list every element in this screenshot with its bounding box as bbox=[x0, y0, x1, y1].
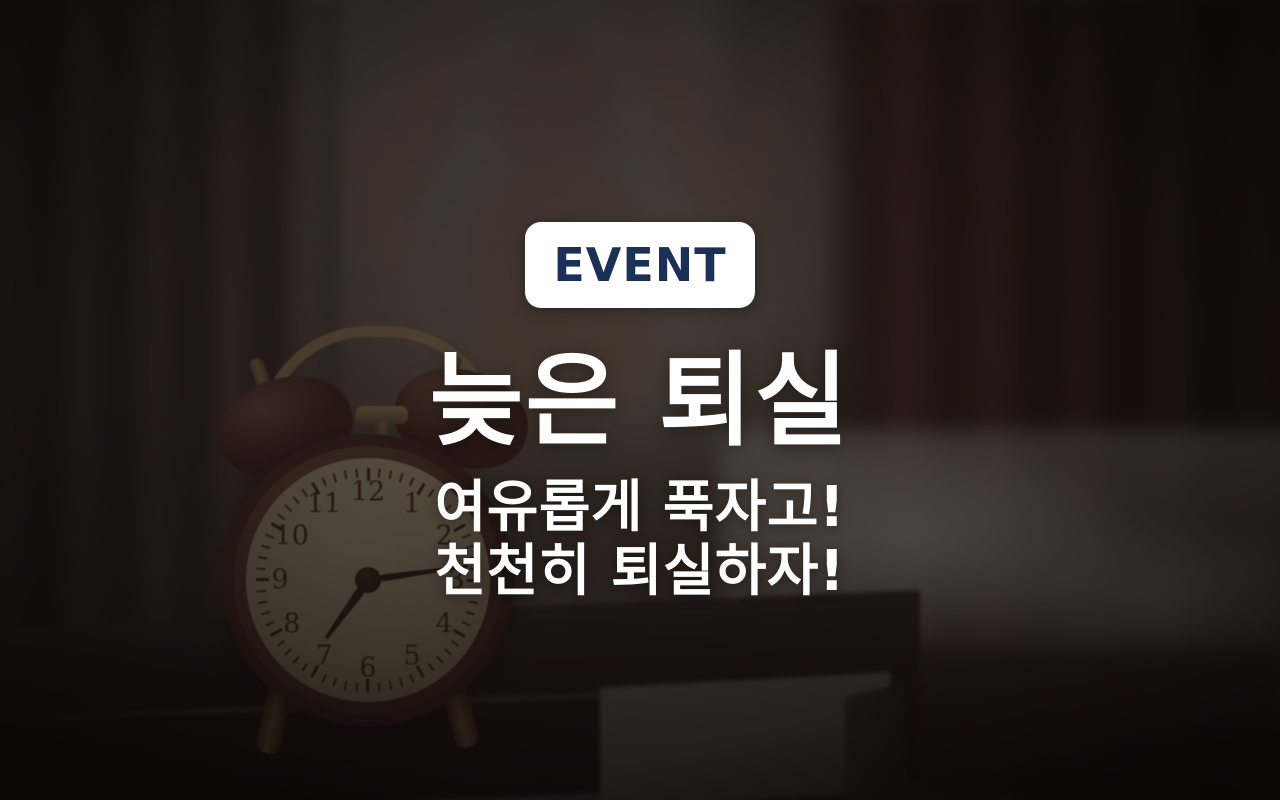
event-badge-label: EVENT bbox=[553, 242, 726, 288]
event-badge[interactable]: EVENT bbox=[525, 222, 755, 308]
page-title: 늦은 퇴실 bbox=[430, 350, 851, 454]
banner-content: EVENT 늦은 퇴실 여유롭게 푹자고! 천천히 퇴실하자! bbox=[0, 0, 1280, 800]
event-banner[interactable]: 121234567891011 EVENT 늦은 퇴실 여유롭게 푹자고! 천천… bbox=[0, 0, 1280, 800]
subtitle-line-2: 천천히 퇴실하자! bbox=[435, 540, 845, 604]
subtitle-line-1: 여유롭게 푹자고! bbox=[435, 476, 845, 540]
subtitle-block: 여유롭게 푹자고! 천천히 퇴실하자! bbox=[435, 476, 845, 604]
